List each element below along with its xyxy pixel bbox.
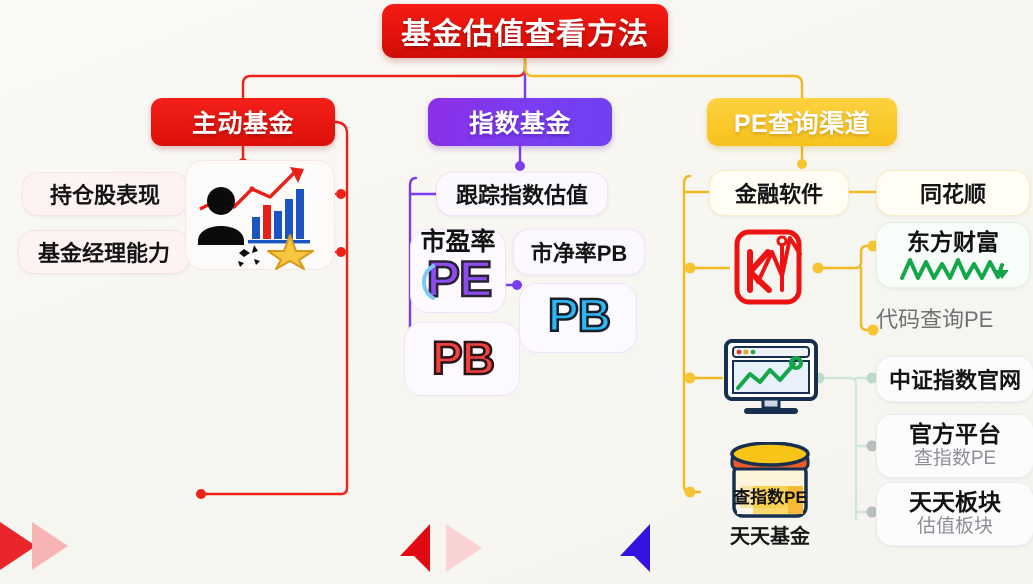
leaf-csindex-site-label: 中证指数官网 <box>889 363 1021 395</box>
arrow-pink-right <box>32 522 68 570</box>
branch-head-active-fund[interactable]: 主动基金 <box>151 98 335 146</box>
leaf-manager-ability[interactable]: 基金经理能力 <box>18 230 190 274</box>
branch-head-pe-channels-label: PE查询渠道 <box>734 104 870 140</box>
person-chart-star-card[interactable] <box>185 160 335 270</box>
leaf-financial-software-label: 金融软件 <box>735 177 823 209</box>
leaf-official-platform-label: 官方平台 <box>909 422 1001 448</box>
leaf-pb-ratio-label: 市净率PB <box>531 236 628 268</box>
leaf-holdings-performance[interactable]: 持仓股表现 <box>22 172 188 216</box>
pe-swoosh-icon <box>417 264 439 302</box>
arrow-red-left <box>400 524 430 572</box>
jar-label: 查指数PE <box>732 487 807 507</box>
leaf-tonghuashun[interactable]: 同花顺 <box>876 170 1030 216</box>
arrow-pink-left <box>446 524 482 572</box>
leaf-financial-software[interactable]: 金融软件 <box>709 170 849 216</box>
pe-graphic-card[interactable]: 市盈率 PE <box>410 229 506 313</box>
monitor-chart-icon <box>722 338 820 418</box>
branch-head-pe-channels[interactable]: PE查询渠道 <box>707 98 897 146</box>
leaf-track-index-valuation-label: 跟踪指数估值 <box>456 178 588 210</box>
leaf-eastmoney[interactable]: 东方财富 <box>876 222 1030 288</box>
leaf-eastmoney-label: 东方财富 <box>907 230 999 256</box>
decorative-arrows <box>0 508 1033 584</box>
pb-red-graphic-card[interactable]: PB <box>404 322 520 396</box>
mindmap-canvas: 基金估值查看方法 主动基金 指数基金 PE查询渠道 持仓股表现 基金经理能力 <box>0 0 1033 584</box>
leaf-code-query-pe[interactable]: 代码查询PE <box>876 302 1033 334</box>
arrow-blue-left <box>620 524 650 572</box>
root-title-label: 基金估值查看方法 <box>401 9 649 53</box>
leaf-pb-ratio[interactable]: 市净率PB <box>513 229 645 275</box>
pb-blue-glyph: PB <box>548 289 610 341</box>
pb-blue-graphic-card[interactable]: PB <box>519 283 637 353</box>
person-chart-star-illustration <box>186 161 336 271</box>
leaf-holdings-performance-label: 持仓股表现 <box>50 178 160 210</box>
leaf-official-platform[interactable]: 官方平台 查指数PE <box>876 414 1033 478</box>
pb-red-glyph: PB <box>432 332 494 384</box>
leaf-code-query-pe-label: 代码查询PE <box>876 302 993 334</box>
branch-head-active-fund-label: 主动基金 <box>192 104 294 140</box>
root-title[interactable]: 基金估值查看方法 <box>382 4 668 58</box>
leaf-official-platform-sub: 查指数PE <box>914 448 996 470</box>
branch-head-index-fund[interactable]: 指数基金 <box>428 98 612 146</box>
leaf-track-index-valuation[interactable]: 跟踪指数估值 <box>436 172 608 216</box>
kline-logo-icon <box>728 224 814 312</box>
eastmoney-zigzag-icon <box>898 256 1008 280</box>
leaf-csindex-site[interactable]: 中证指数官网 <box>876 356 1033 402</box>
leaf-manager-ability-label: 基金经理能力 <box>38 236 170 268</box>
branch-head-index-fund-label: 指数基金 <box>469 104 571 140</box>
kline-logo-card[interactable] <box>728 224 814 312</box>
arrow-red-right <box>0 522 36 570</box>
leaf-tonghuashun-label: 同花顺 <box>920 177 986 209</box>
monitor-chart-card[interactable] <box>722 338 820 418</box>
